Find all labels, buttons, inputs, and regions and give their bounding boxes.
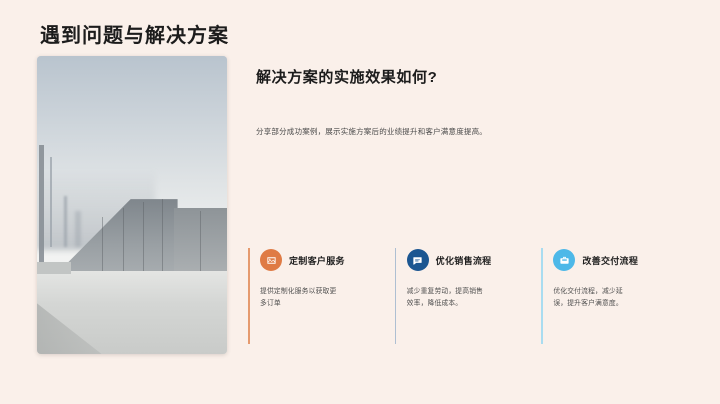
curb <box>37 262 71 274</box>
distant-tower <box>50 157 52 246</box>
card-body-text: 提供定制化服务以获取更多订单 <box>260 286 338 310</box>
panel-seam <box>143 202 144 277</box>
section-subtitle: 解决方案的实施效果如何? <box>256 66 437 87</box>
card-title: 定制客户服务 <box>289 254 345 267</box>
distant-tower <box>64 196 67 247</box>
hero-image <box>37 56 227 354</box>
chat-bubble-icon <box>407 249 429 271</box>
distant-tower <box>75 211 81 247</box>
card-title: 改善交付流程 <box>582 254 638 267</box>
feature-card: 改善交付流程 优化交付流程，减少延误，提升客户满意度。 <box>541 246 688 310</box>
feature-card: 优化销售流程 减少重复劳动，提高销售效率，降低成本。 <box>395 246 542 310</box>
image-icon <box>260 249 282 271</box>
distant-tower <box>39 145 44 264</box>
card-body-text: 优化交付流程，减少延误，提升客户满意度。 <box>553 286 631 310</box>
card-body-text: 减少重复劳动，提高销售效率，降低成本。 <box>407 286 485 310</box>
briefcase-icon <box>553 249 575 271</box>
card-header: 定制客户服务 <box>260 246 395 274</box>
card-header: 优化销售流程 <box>407 246 542 274</box>
card-title: 优化销售流程 <box>436 254 492 267</box>
page-title: 遇到问题与解决方案 <box>40 24 229 48</box>
panel-seam <box>162 199 163 276</box>
panel-seam <box>200 211 201 277</box>
card-divider <box>541 248 543 344</box>
section-description: 分享部分成功案例，展示实施方案后的业绩提升和客户满意度提高。 <box>256 126 586 138</box>
card-divider <box>395 248 397 344</box>
slide-canvas: 遇到问题与解决方案 解决方案的实施效果如何? 分享部分成功案例，展示实施方案后的… <box>0 0 720 404</box>
feature-card: 定制客户服务 提供定制化服务以获取更多订单 <box>248 246 395 310</box>
card-header: 改善交付流程 <box>553 246 688 274</box>
concrete-building-photo <box>37 56 227 354</box>
panel-seam <box>123 208 124 277</box>
panel-seam <box>102 217 103 277</box>
feature-card-row: 定制客户服务 提供定制化服务以获取更多订单 优化销售流程 减少重复劳动，提高销售… <box>248 246 688 310</box>
card-divider <box>248 248 250 344</box>
